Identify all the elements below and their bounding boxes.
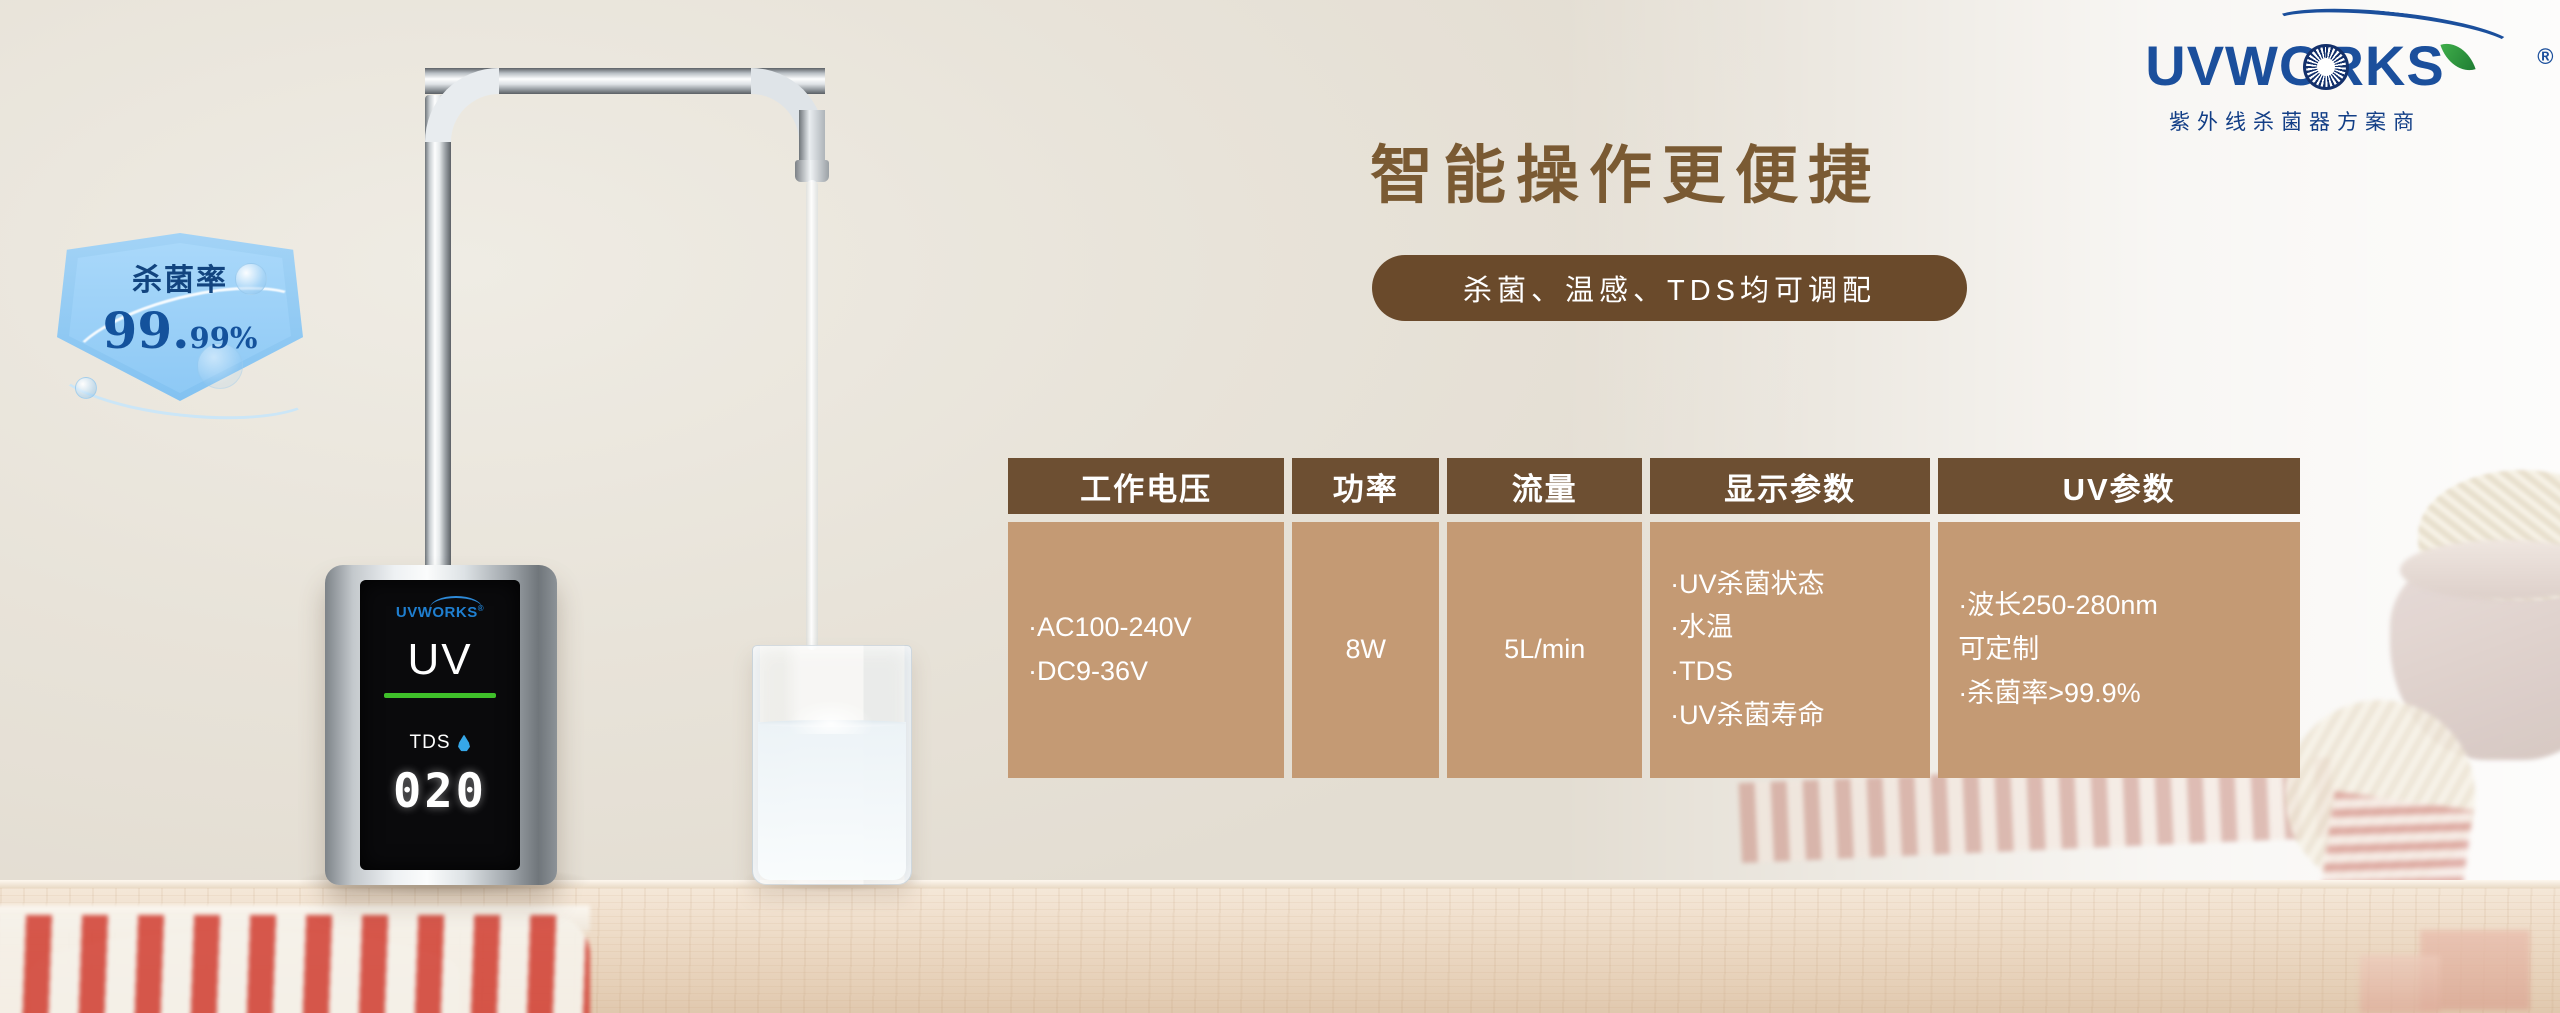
spec-column-header: 流量 <box>1447 458 1642 514</box>
spec-column: 功率8W <box>1292 458 1439 778</box>
spec-column-header: 显示参数 <box>1650 458 1930 514</box>
badge-value: 99 . 99% <box>103 301 258 360</box>
spec-line: ·UV杀菌状态 <box>1670 563 1914 607</box>
spec-column-body: ·AC100-240V·DC9-36V <box>1008 522 1284 778</box>
spec-line: ·波长250-280nm <box>1958 584 2284 628</box>
water-drop-icon <box>458 735 471 752</box>
feature-pill: 杀菌、温感、TDS均可调配 <box>1372 255 1967 321</box>
spec-column: 工作电压·AC100-240V·DC9-36V <box>1008 458 1284 778</box>
spec-column-header: UV参数 <box>1938 458 2300 514</box>
badge-value-decimal: 99% <box>190 321 258 355</box>
brand-tagline: 紫外线杀菌器方案商 <box>2085 106 2505 136</box>
spec-column: 流量5L/min <box>1447 458 1642 778</box>
spec-column: UV参数·波长250-280nm可定制·杀菌率>99.9% <box>1938 458 2300 778</box>
device-brand-logo: UVWORKS® <box>396 604 484 621</box>
device-status-bar <box>384 693 496 698</box>
spec-column-body: ·波长250-280nm可定制·杀菌率>99.9% <box>1938 522 2300 778</box>
spec-line: ·TDS <box>1670 650 1914 694</box>
badge-title: 杀菌率 <box>132 255 228 299</box>
device-mode-label: UV <box>407 635 472 685</box>
brand-logo: UVWORKS ® 紫外线杀菌器方案商 <box>2085 38 2505 136</box>
spec-line: ·AC100-240V <box>1028 606 1268 650</box>
brand-wordmark: UVWORKS ® <box>2145 38 2444 94</box>
spec-line: ·水温 <box>1670 606 1914 650</box>
spec-line: 8W <box>1346 628 1387 672</box>
sterilization-rate-badge: 杀菌率 99 . 99% <box>45 225 315 405</box>
device-tds-value: 020 <box>393 764 487 819</box>
device-tds-row: TDS <box>410 732 471 754</box>
red-checked-cloth-prop <box>0 915 590 1013</box>
badge-value-integer: 99 <box>103 301 173 360</box>
device-logo-arc-icon <box>430 596 482 608</box>
uv-device-screen: UVWORKS® UV TDS 020 <box>360 580 520 870</box>
spec-table: 工作电压·AC100-240V·DC9-36V功率8W流量5L/min显示参数·… <box>1008 458 2300 778</box>
spec-column: 显示参数·UV杀菌状态·水温·TDS·UV杀菌寿命 <box>1650 458 1930 778</box>
spec-line: 可定制 <box>1958 628 2284 672</box>
badge-text-group: 杀菌率 99 . 99% <box>45 225 315 405</box>
spec-line: 5L/min <box>1504 628 1585 672</box>
faucet-nozzle <box>795 160 829 182</box>
spec-line: ·杀菌率>99.9% <box>1958 672 2284 716</box>
badge-value-dot: . <box>172 301 189 360</box>
spec-column-body: 5L/min <box>1447 522 1642 778</box>
page-title: 智能操作更便捷 <box>1370 125 2010 216</box>
spec-column-body: ·UV杀菌状态·水温·TDS·UV杀菌寿命 <box>1650 522 1930 778</box>
spec-line: ·DC9-36V <box>1028 650 1268 694</box>
spec-column-body: 8W <box>1292 522 1439 778</box>
glass-splash <box>788 700 874 734</box>
spec-line: ·UV杀菌寿命 <box>1670 694 1914 738</box>
glass-water-fill <box>758 722 906 880</box>
spec-column-header: 功率 <box>1292 458 1439 514</box>
water-stream <box>806 180 818 650</box>
device-tds-label: TDS <box>410 732 451 754</box>
brand-registered-icon: ® <box>2537 46 2554 68</box>
pink-block-prop-2 <box>2360 955 2440 1013</box>
spec-column-header: 工作电压 <box>1008 458 1284 514</box>
